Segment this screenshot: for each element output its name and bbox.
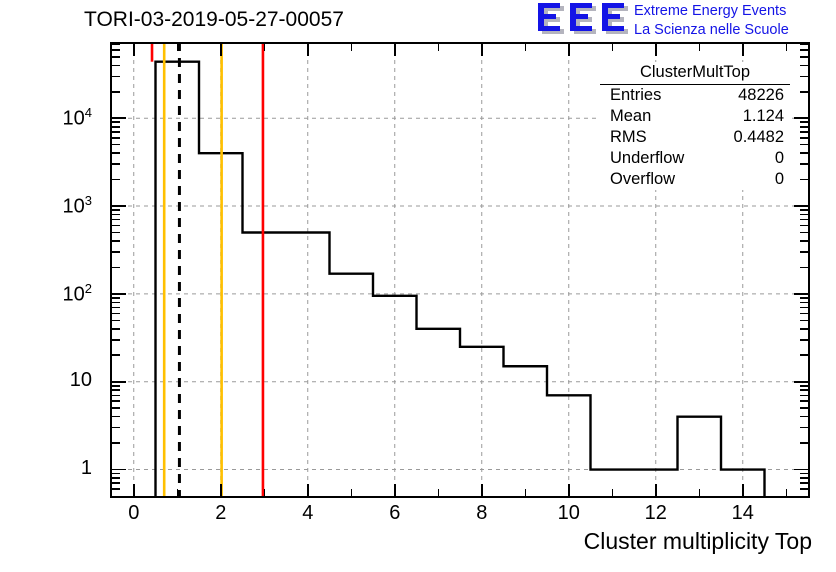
- x-tick-label: 0: [128, 502, 139, 525]
- x-tick-label: 4: [302, 502, 313, 525]
- y-tick-right: [800, 137, 808, 139]
- x-tick-top: [655, 44, 657, 56]
- y-tick-minor: [112, 56, 120, 58]
- x-tick-major: [481, 484, 483, 496]
- x-tick-top: [351, 44, 353, 51]
- x-tick-top: [525, 44, 527, 51]
- y-tick-right: [800, 407, 808, 409]
- y-tick-right: [800, 339, 808, 341]
- y-tick-minor: [112, 302, 120, 304]
- eee-letters-icon: [538, 3, 628, 37]
- y-tick-right: [800, 91, 808, 93]
- y-tick-right: [800, 251, 808, 253]
- x-tick-top: [742, 44, 744, 56]
- x-tick-top: [264, 44, 266, 51]
- x-tick-top: [133, 44, 135, 56]
- y-tick-minor: [112, 307, 120, 309]
- y-tick-major: [112, 205, 126, 207]
- x-tick-label: 10: [558, 502, 580, 525]
- y-tick-right: [800, 209, 808, 211]
- y-tick-right: [800, 442, 808, 444]
- y-tick-minor: [112, 320, 120, 322]
- x-tick-major: [394, 484, 396, 496]
- y-tick-minor: [112, 339, 120, 341]
- y-tick-minor: [112, 442, 120, 444]
- y-tick-minor: [112, 354, 120, 356]
- x-tick-label: 2: [215, 502, 226, 525]
- stats-row-value: 0: [775, 170, 784, 189]
- y-tick-minor: [112, 297, 120, 299]
- y-tick-minor: [112, 232, 120, 234]
- y-tick-minor: [112, 240, 120, 242]
- stats-row-value: 48226: [738, 86, 784, 105]
- y-tick-right: [794, 469, 808, 471]
- y-tick-right: [800, 152, 808, 154]
- y-tick-right: [800, 126, 808, 128]
- x-tick-top: [568, 44, 570, 56]
- stats-row: Underflow0: [600, 148, 790, 169]
- y-tick-right: [800, 43, 808, 45]
- x-tick-top: [481, 44, 483, 56]
- y-tick-right: [794, 117, 808, 119]
- x-tick-minor: [438, 489, 440, 496]
- y-tick-minor: [112, 328, 120, 330]
- y-tick-right: [800, 313, 808, 315]
- y-tick-right: [800, 389, 808, 391]
- y-tick-minor: [112, 477, 120, 479]
- y-tick-right: [800, 482, 808, 484]
- y-tick-minor: [112, 400, 120, 402]
- x-tick-top: [699, 44, 701, 51]
- y-tick-minor: [112, 76, 120, 78]
- y-tick-minor: [112, 131, 120, 133]
- y-tick-label: 1: [0, 457, 92, 480]
- eee-logo: Extreme Energy Events La Scienza nelle S…: [538, 2, 834, 42]
- y-tick-minor: [112, 152, 120, 154]
- stats-box: ClusterMultTop Entries48226Mean1.124RMS0…: [600, 62, 790, 190]
- stats-rows: Entries48226Mean1.124RMS0.4482Underflow0…: [600, 85, 790, 190]
- stats-row: Entries48226: [600, 85, 790, 106]
- x-tick-minor: [177, 489, 179, 496]
- x-tick-major: [307, 484, 309, 496]
- y-tick-label: 103: [0, 193, 92, 219]
- stats-row-key: Underflow: [610, 149, 684, 168]
- x-tick-major: [220, 484, 222, 496]
- stats-row-key: RMS: [610, 128, 647, 147]
- y-tick-minor: [112, 225, 120, 227]
- x-tick-label: 8: [476, 502, 487, 525]
- x-tick-top: [612, 44, 614, 51]
- y-tick-right: [800, 49, 808, 51]
- y-tick-right: [800, 76, 808, 78]
- y-tick-minor: [112, 121, 120, 123]
- y-tick-minor: [112, 407, 120, 409]
- y-tick-right: [800, 395, 808, 397]
- y-tick-right: [800, 232, 808, 234]
- y-tick-right: [800, 477, 808, 479]
- x-tick-top: [394, 44, 396, 56]
- y-tick-right: [800, 121, 808, 123]
- x-tick-minor: [612, 489, 614, 496]
- y-tick-right: [800, 240, 808, 242]
- stats-row: Overflow0: [600, 169, 790, 190]
- y-tick-right: [800, 267, 808, 269]
- x-tick-minor: [525, 489, 527, 496]
- y-tick-minor: [112, 313, 120, 315]
- y-tick-minor: [112, 473, 120, 475]
- y-tick-minor: [112, 91, 120, 93]
- y-tick-minor: [112, 209, 120, 211]
- y-tick-minor: [112, 416, 120, 418]
- y-tick-minor: [112, 251, 120, 253]
- page-title: TORI-03-2019-05-27-00057: [84, 8, 344, 32]
- y-tick-right: [800, 144, 808, 146]
- logo-line-1: Extreme Energy Events: [634, 2, 789, 21]
- x-tick-minor: [699, 489, 701, 496]
- stats-row-key: Overflow: [610, 170, 675, 189]
- y-tick-right: [800, 488, 808, 490]
- y-tick-minor: [112, 137, 120, 139]
- x-tick-label: 6: [389, 502, 400, 525]
- stats-row-value: 0.4482: [734, 128, 784, 147]
- y-tick-right: [800, 400, 808, 402]
- x-tick-major: [568, 484, 570, 496]
- logo-line-2: La Scienza nelle Scuole: [634, 21, 789, 40]
- stats-row-key: Mean: [610, 107, 651, 126]
- y-tick-major: [112, 293, 126, 295]
- x-tick-top: [220, 44, 222, 56]
- stats-row: Mean1.124: [600, 106, 790, 127]
- logo-tagline: Extreme Energy Events La Scienza nelle S…: [634, 2, 789, 40]
- y-tick-major: [112, 469, 126, 471]
- y-tick-right: [800, 56, 808, 58]
- x-tick-top: [438, 44, 440, 51]
- y-tick-right: [800, 416, 808, 418]
- stats-title: ClusterMultTop: [600, 62, 790, 85]
- y-tick-right: [800, 307, 808, 309]
- y-tick-major: [112, 381, 126, 383]
- x-axis-title: Cluster multiplicity Top: [584, 528, 812, 555]
- y-tick-minor: [112, 395, 120, 397]
- y-tick-right: [800, 427, 808, 429]
- y-tick-right: [800, 320, 808, 322]
- y-tick-minor: [112, 267, 120, 269]
- y-tick-right: [794, 293, 808, 295]
- y-tick-minor: [112, 385, 120, 387]
- x-tick-major: [133, 484, 135, 496]
- y-tick-minor: [112, 49, 120, 51]
- y-tick-right: [800, 354, 808, 356]
- y-tick-right: [800, 179, 808, 181]
- y-tick-minor: [112, 179, 120, 181]
- y-tick-minor: [112, 482, 120, 484]
- x-tick-top: [786, 44, 788, 51]
- y-tick-minor: [112, 488, 120, 490]
- y-tick-minor: [112, 144, 120, 146]
- y-tick-minor: [112, 43, 120, 45]
- y-tick-right: [800, 131, 808, 133]
- y-tick-label: 10: [0, 369, 92, 392]
- root-canvas: TORI-03-2019-05-27-00057 Extreme Energy …: [0, 0, 836, 572]
- y-tick-right: [800, 65, 808, 67]
- stats-row-key: Entries: [610, 86, 661, 105]
- x-tick-major: [742, 484, 744, 496]
- y-tick-right: [800, 214, 808, 216]
- y-tick-right: [800, 225, 808, 227]
- y-tick-right: [800, 385, 808, 387]
- y-tick-minor: [112, 219, 120, 221]
- y-tick-right: [800, 473, 808, 475]
- x-tick-label: 12: [645, 502, 667, 525]
- y-tick-right: [794, 381, 808, 383]
- y-tick-minor: [112, 126, 120, 128]
- x-tick-top: [307, 44, 309, 56]
- y-tick-label: 104: [0, 105, 92, 131]
- y-tick-right: [800, 297, 808, 299]
- stats-row-value: 1.124: [743, 107, 784, 126]
- x-tick-minor: [786, 489, 788, 496]
- stats-row-value: 0: [775, 149, 784, 168]
- y-tick-minor: [112, 427, 120, 429]
- stats-row: RMS0.4482: [600, 127, 790, 148]
- y-tick-minor: [112, 163, 120, 165]
- y-tick-right: [800, 328, 808, 330]
- x-tick-top: [177, 44, 179, 51]
- y-tick-right: [800, 163, 808, 165]
- y-tick-right: [800, 219, 808, 221]
- x-tick-major: [655, 484, 657, 496]
- y-tick-minor: [112, 65, 120, 67]
- x-tick-label: 14: [732, 502, 754, 525]
- x-tick-minor: [351, 489, 353, 496]
- x-tick-minor: [264, 489, 266, 496]
- y-tick-label: 102: [0, 281, 92, 307]
- y-tick-minor: [112, 389, 120, 391]
- y-tick-major: [112, 117, 126, 119]
- y-tick-minor: [112, 214, 120, 216]
- y-tick-right: [800, 302, 808, 304]
- y-tick-right: [794, 205, 808, 207]
